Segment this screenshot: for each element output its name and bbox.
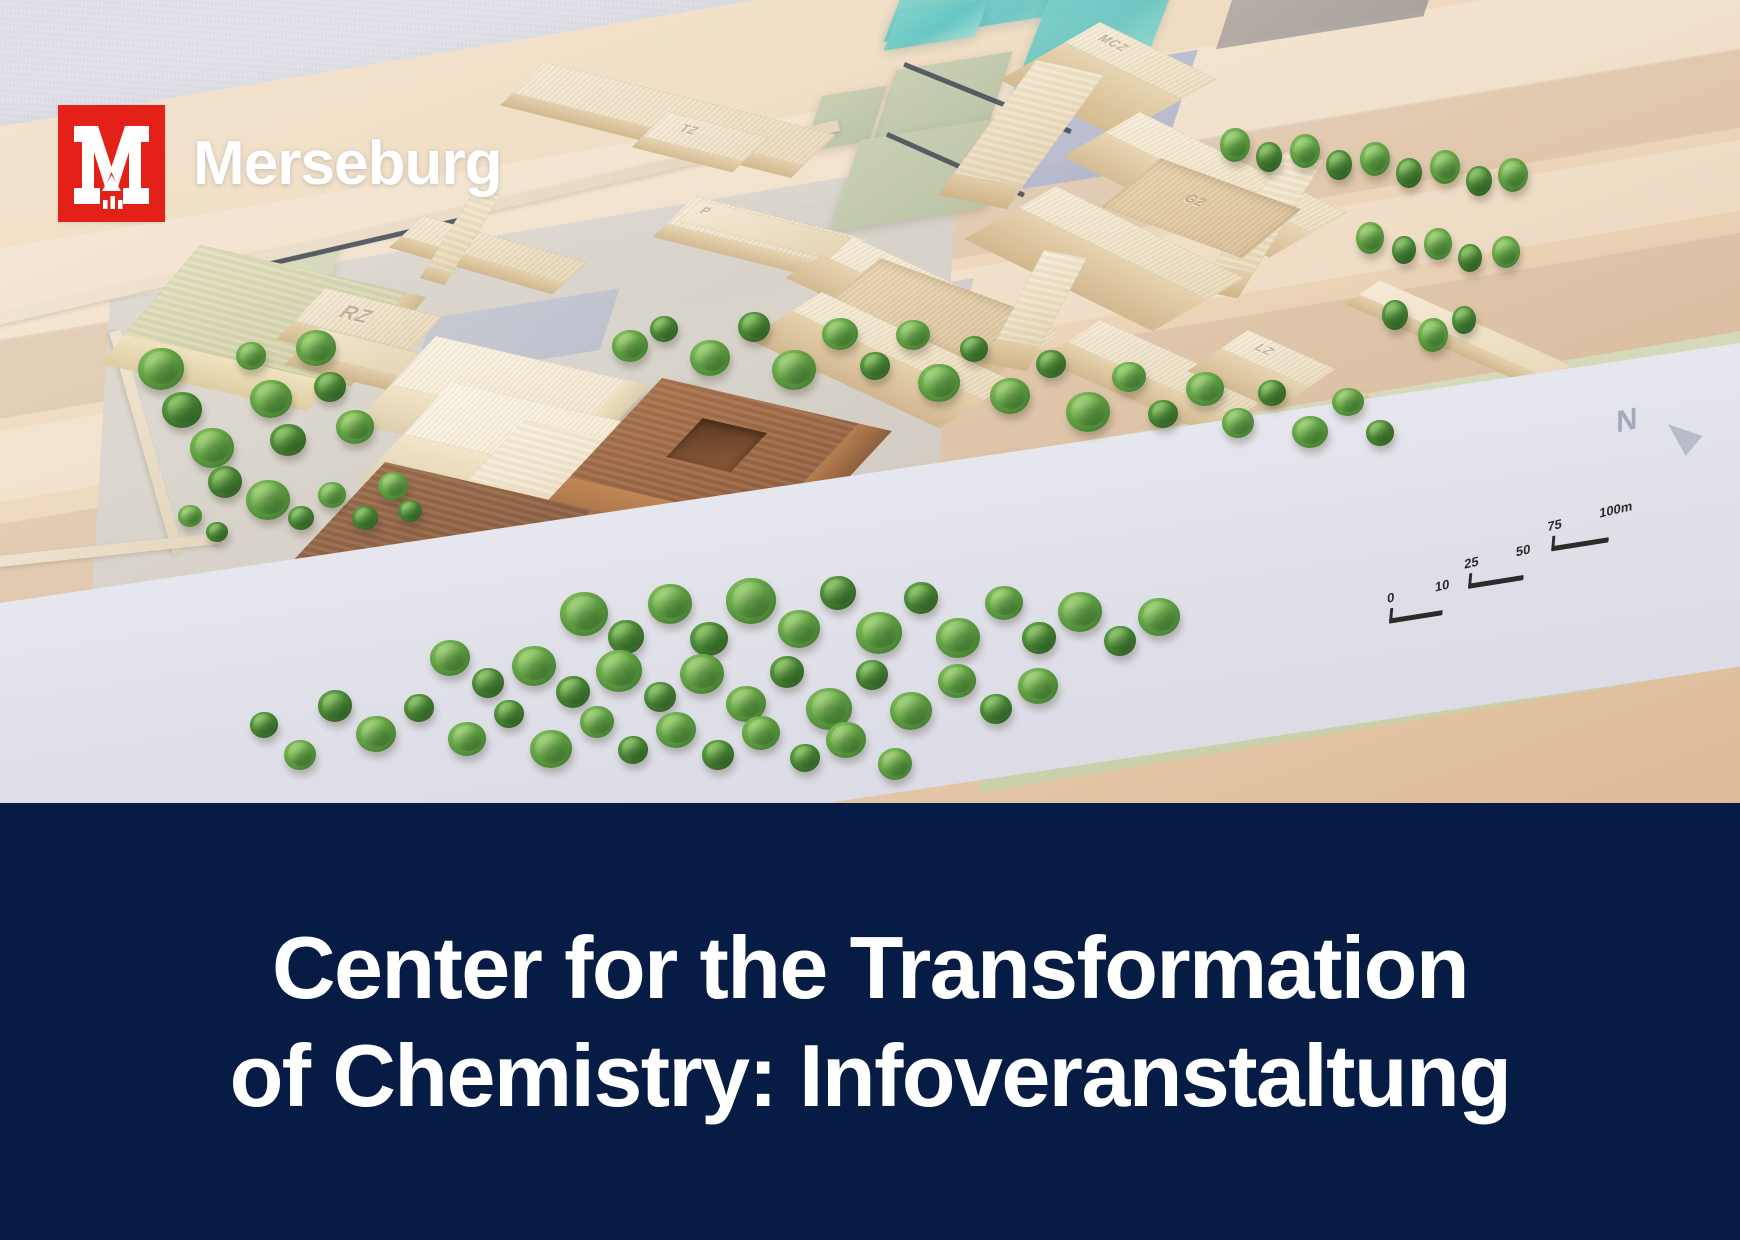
model-tree: [980, 694, 1012, 724]
event-banner: TZ GB MCZ G2: [0, 0, 1740, 1240]
model-tree: [1290, 134, 1320, 168]
model-tree: [556, 676, 590, 708]
model-tree: [1256, 142, 1282, 172]
model-tree: [162, 392, 202, 428]
model-tree: [1366, 420, 1394, 446]
model-tree: [560, 592, 608, 636]
model-tree: [1022, 622, 1056, 654]
model-tree: [336, 410, 374, 444]
model-tree: [1418, 318, 1448, 352]
model-tree: [318, 690, 352, 722]
merseburg-castle-m-icon: [58, 105, 165, 222]
model-tree: [596, 650, 642, 692]
model-tree: [690, 622, 728, 656]
model-tree: [1104, 626, 1136, 656]
model-tree: [138, 348, 184, 390]
model-tree: [1292, 416, 1328, 448]
model-tree: [1112, 362, 1146, 392]
model-tree: [580, 706, 614, 738]
model-tree: [690, 340, 730, 376]
model-tree: [612, 330, 648, 362]
model-tree: [936, 618, 980, 658]
model-tree: [1036, 350, 1066, 378]
model-tree: [1222, 408, 1254, 438]
scale-label-100: 100m: [1599, 498, 1632, 521]
event-title-line-2: of Chemistry: Infoveranstaltung: [230, 1022, 1511, 1129]
model-tree: [1452, 306, 1476, 334]
model-tree: [530, 730, 572, 768]
model-tree: [208, 466, 242, 498]
model-tree: [680, 654, 724, 694]
model-tree: [770, 656, 804, 688]
model-tree: [702, 740, 734, 770]
model-tree: [618, 736, 648, 764]
model-tree: [1466, 166, 1492, 196]
model-tree: [826, 722, 866, 758]
event-title-line-1: Center for the Transformation: [272, 914, 1468, 1021]
model-tree: [890, 692, 932, 730]
model-tree: [296, 330, 336, 366]
model-tree: [856, 660, 888, 690]
model-tree: [494, 700, 524, 728]
scale-label-10: 10: [1435, 576, 1450, 594]
model-tree: [318, 482, 346, 508]
merseburg-wordmark: Merseburg: [193, 133, 502, 195]
model-tree: [656, 712, 696, 748]
model-tree: [1186, 372, 1224, 406]
model-tree: [820, 576, 856, 610]
model-tree: [1360, 142, 1390, 176]
model-tree: [284, 740, 316, 770]
model-tree: [856, 612, 902, 654]
model-tree: [918, 364, 960, 402]
model-tree: [772, 350, 816, 390]
model-tree: [378, 472, 408, 500]
model-tree: [608, 620, 644, 654]
model-tree: [1332, 388, 1364, 416]
model-tree: [878, 748, 912, 780]
model-tree: [1148, 400, 1178, 428]
model-tree: [1220, 128, 1250, 162]
model-tree: [1018, 668, 1058, 704]
model-tree: [860, 352, 890, 380]
model-tree: [778, 610, 820, 648]
model-tree: [738, 312, 770, 342]
model-tree: [990, 378, 1030, 414]
model-tree: [1424, 228, 1452, 260]
model-tree: [648, 584, 692, 624]
model-tree: [790, 744, 820, 772]
model-tree: [1138, 598, 1180, 636]
model-tree: [938, 664, 976, 698]
model-tree: [1458, 244, 1482, 272]
model-tree: [822, 318, 858, 350]
model-tree: [650, 316, 678, 342]
model-tree: [1066, 392, 1110, 432]
model-tree: [448, 722, 486, 756]
model-tree: [246, 480, 290, 520]
scale-label-75: 75: [1547, 516, 1562, 534]
model-tree: [896, 320, 930, 350]
scale-label-0: 0: [1387, 589, 1394, 606]
model-tree: [1058, 592, 1102, 632]
model-tree: [236, 342, 266, 370]
scale-label-50: 50: [1516, 541, 1531, 559]
model-tree: [644, 682, 676, 712]
title-band: Center for the Transformation of Chemist…: [0, 803, 1740, 1240]
scale-label-25: 25: [1464, 553, 1479, 571]
north-label: N: [1616, 401, 1638, 441]
model-tree: [314, 372, 346, 402]
model-tree: [985, 586, 1023, 620]
model-tree: [1396, 158, 1422, 188]
model-tree: [726, 578, 776, 624]
model-tree: [206, 522, 228, 542]
model-tree: [250, 712, 278, 738]
model-tree: [1498, 158, 1528, 192]
model-tree: [512, 646, 556, 686]
model-tree: [1392, 236, 1416, 264]
model-tree: [250, 380, 292, 418]
model-tree: [1382, 300, 1408, 330]
model-tree: [1326, 150, 1352, 180]
merseburg-logo[interactable]: Merseburg: [58, 105, 502, 222]
model-tree: [190, 428, 234, 468]
model-tree: [288, 506, 314, 530]
model-tree: [960, 336, 988, 362]
model-tree: [430, 640, 470, 676]
model-tree: [398, 500, 422, 522]
model-tree: [1356, 222, 1384, 254]
model-tree: [1430, 150, 1460, 184]
model-tree: [1258, 380, 1286, 406]
model-tree: [178, 505, 202, 527]
model-tree: [404, 694, 434, 722]
model-tree: [1492, 236, 1520, 268]
model-tree: [270, 424, 306, 456]
model-tree: [904, 582, 938, 614]
model-tree: [356, 716, 396, 752]
model-tree: [472, 668, 504, 698]
model-tree: [742, 716, 780, 750]
model-tree: [352, 506, 378, 530]
